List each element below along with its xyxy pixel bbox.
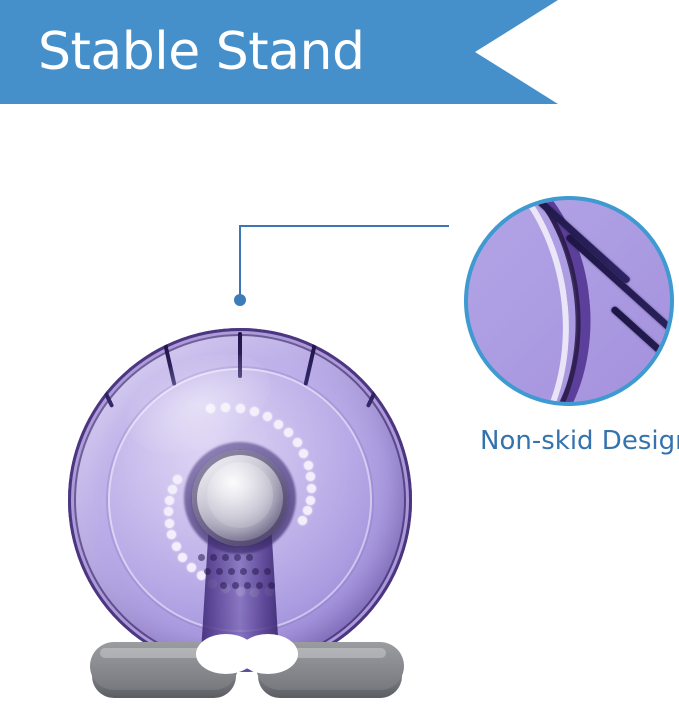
stand-foot-right xyxy=(256,642,404,706)
post-texture-dot xyxy=(222,554,229,561)
product-photo xyxy=(60,320,420,718)
stand-base xyxy=(74,638,410,714)
leader-endpoint-dot xyxy=(234,294,246,306)
wheel-pattern-dot xyxy=(165,496,174,505)
post-texture-dot xyxy=(240,568,247,575)
wheel-pattern-dot xyxy=(221,403,230,412)
wheel-pattern-dot xyxy=(168,485,177,494)
post-texture-dot xyxy=(220,582,227,589)
wheel-hub xyxy=(192,450,288,546)
wheel-pattern-dot xyxy=(206,404,215,413)
wheel-pattern-dot xyxy=(274,420,283,429)
post-texture-dot xyxy=(204,568,211,575)
wheel-pattern-dot xyxy=(173,475,182,484)
magnifier-circle xyxy=(464,196,674,406)
post-dot-texture xyxy=(180,548,300,608)
post-texture-dot xyxy=(198,554,205,561)
wheel-pattern-dot xyxy=(164,507,173,516)
wheel-pattern-dot xyxy=(304,461,313,470)
wheel-pattern-dot xyxy=(236,404,245,413)
banner-title: Stable Stand xyxy=(38,14,364,90)
hub-dome xyxy=(207,462,273,528)
wheel-pattern-dot xyxy=(307,484,316,493)
post-texture-dot xyxy=(210,554,217,561)
wheel-pattern-dot xyxy=(298,516,307,525)
post-texture-dot xyxy=(244,582,251,589)
post-texture-dot xyxy=(264,568,271,575)
leader-line-horizontal xyxy=(239,225,449,227)
wheel-pattern-dot xyxy=(263,412,272,421)
wheel-pattern-dot xyxy=(165,519,174,528)
exercise-wheel xyxy=(68,328,412,672)
wheel-disc xyxy=(68,328,412,672)
post-texture-dot xyxy=(216,568,223,575)
post-texture-dot xyxy=(252,568,259,575)
callout-caption: Non-skid Design xyxy=(480,424,679,458)
post-texture-dot xyxy=(228,568,235,575)
wheel-pattern-dot xyxy=(250,407,259,416)
wheel-pattern-dot xyxy=(293,438,302,447)
wheel-pattern-dot xyxy=(299,449,308,458)
post-texture-dot xyxy=(256,582,263,589)
post-texture-dot xyxy=(234,554,241,561)
post-texture-dot xyxy=(246,554,253,561)
wheel-pattern-dot xyxy=(167,530,176,539)
magnified-surface xyxy=(468,200,670,402)
leader-line-vertical xyxy=(239,225,241,301)
wheel-pattern-dot xyxy=(306,496,315,505)
product-feature-image: Stable Stand Non-skid Design xyxy=(0,0,679,718)
wheel-pattern-dot xyxy=(284,428,293,437)
callout-leader-line xyxy=(230,216,460,316)
post-texture-dot xyxy=(268,582,275,589)
wheel-pattern-dot xyxy=(306,472,315,481)
banner: Stable Stand xyxy=(0,0,679,104)
wheel-pattern-dot xyxy=(303,506,312,515)
stand-foot-left xyxy=(90,642,238,706)
foot-notch xyxy=(238,634,298,674)
post-texture-dot xyxy=(232,582,239,589)
